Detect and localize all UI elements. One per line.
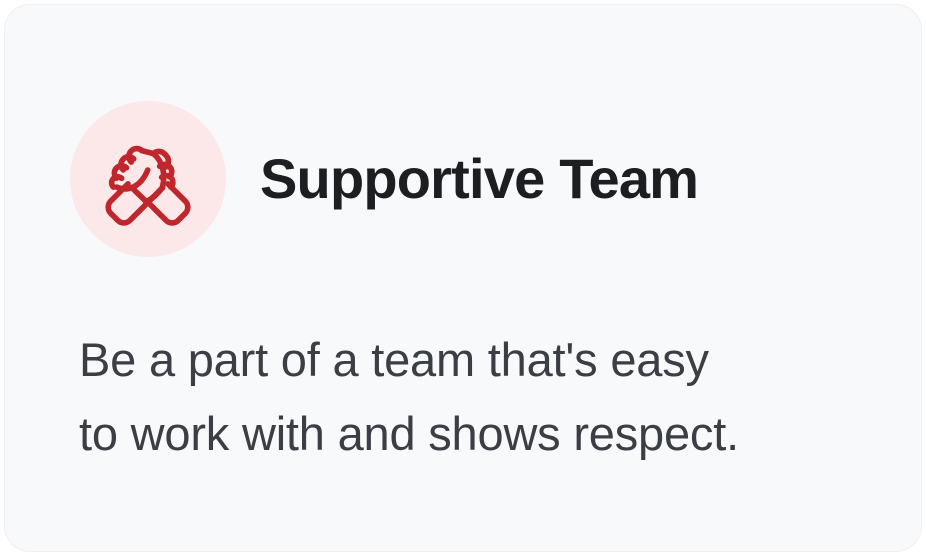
description-line-1: Be a part of a team that's easy: [79, 323, 879, 397]
card-description: Be a part of a team that's easy to work …: [79, 323, 879, 471]
description-line-2: to work with and shows respect.: [79, 397, 879, 471]
card-header: Supportive Team: [5, 101, 921, 265]
icon-badge: [70, 101, 226, 257]
clasped-hands-icon: [94, 125, 202, 233]
page-title: Supportive Team: [260, 117, 698, 241]
feature-card: Supportive Team Be a part of a team that…: [4, 4, 922, 552]
